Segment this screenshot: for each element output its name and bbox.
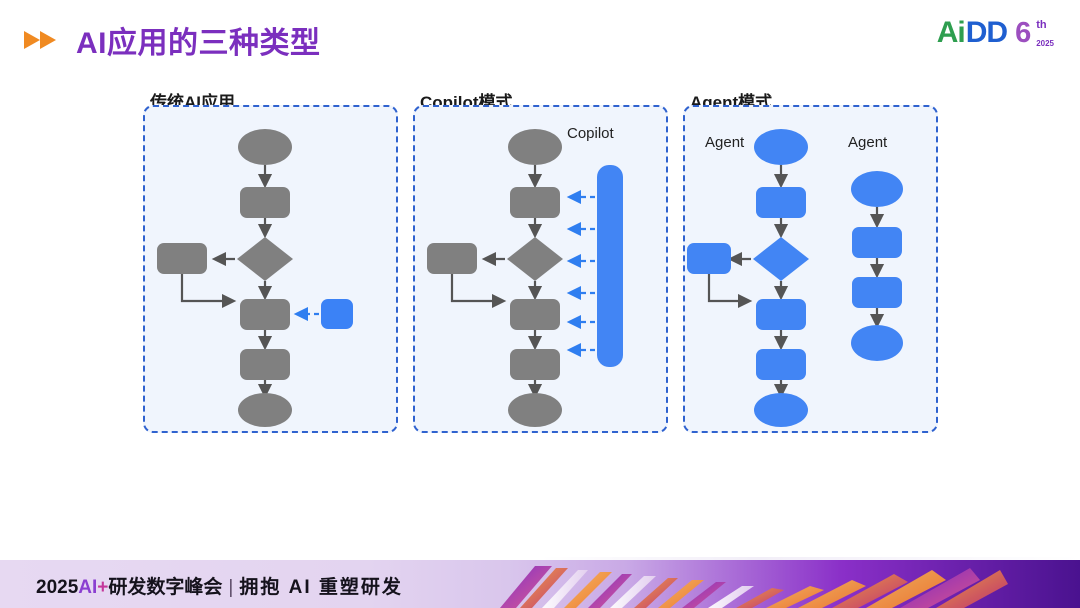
node-branch bbox=[427, 243, 477, 274]
node-end bbox=[508, 393, 562, 427]
footer-ai: AI bbox=[78, 577, 97, 598]
node-decision bbox=[237, 237, 293, 281]
agent2-node-process-1 bbox=[852, 227, 902, 258]
node-end bbox=[754, 393, 808, 427]
node-start bbox=[238, 129, 292, 165]
agent2-node-end bbox=[851, 325, 903, 361]
node-process-3 bbox=[510, 349, 560, 380]
node-decision bbox=[753, 237, 809, 281]
footer-plus: + bbox=[97, 577, 108, 598]
flowchart-agent bbox=[685, 107, 936, 431]
footer-brand-cn: 研发数字峰会 bbox=[108, 577, 222, 598]
node-start bbox=[508, 129, 562, 165]
footer-bar: 2025AI+研发数字峰会|拥抱 AI 重塑研发 bbox=[0, 560, 1080, 608]
flowchart-traditional bbox=[145, 107, 396, 431]
node-decision bbox=[507, 237, 563, 281]
footer-ribbon-graphic bbox=[480, 560, 1080, 608]
footer-year: 2025 bbox=[36, 577, 78, 598]
double-arrow-icon bbox=[22, 28, 62, 52]
node-ai-tool bbox=[321, 299, 353, 329]
agent2-node-start bbox=[851, 171, 903, 207]
footer-tagline: 拥抱 AI 重塑研发 bbox=[239, 577, 403, 598]
panel-copilot: Copilot bbox=[413, 105, 668, 433]
logo-six-text: 6 bbox=[1015, 19, 1031, 48]
node-process-1 bbox=[756, 187, 806, 218]
node-end bbox=[238, 393, 292, 427]
node-process-2 bbox=[756, 299, 806, 330]
node-process-3 bbox=[756, 349, 806, 380]
node-branch bbox=[687, 243, 731, 274]
logo-ai-text: Ai bbox=[937, 18, 965, 48]
logo-dd-text: DD bbox=[966, 18, 1007, 48]
node-process-1 bbox=[510, 187, 560, 218]
node-start bbox=[754, 129, 808, 165]
panel-agent: Agent Agent bbox=[683, 105, 938, 433]
node-branch bbox=[157, 243, 207, 274]
logo-superscript: th 2025 bbox=[1036, 20, 1054, 48]
aidd-logo: Ai DD 6 th 2025 bbox=[937, 18, 1054, 48]
footer-brand: 2025AI+研发数字峰会|拥抱 AI 重塑研发 bbox=[36, 572, 403, 599]
logo-th-text: th bbox=[1036, 20, 1046, 31]
footer-separator: | bbox=[228, 577, 233, 598]
agent2-node-process-2 bbox=[852, 277, 902, 308]
node-process-1 bbox=[240, 187, 290, 218]
node-process-2 bbox=[240, 299, 290, 330]
node-process-2 bbox=[510, 299, 560, 330]
flowchart-copilot bbox=[415, 107, 666, 431]
panel-traditional-ai bbox=[143, 105, 398, 433]
logo-year-text: 2025 bbox=[1036, 40, 1054, 48]
page-title: AI应用的三种类型 bbox=[76, 18, 321, 62]
node-process-3 bbox=[240, 349, 290, 380]
slide-header: AI应用的三种类型 bbox=[22, 18, 321, 62]
copilot-bar bbox=[597, 165, 623, 367]
